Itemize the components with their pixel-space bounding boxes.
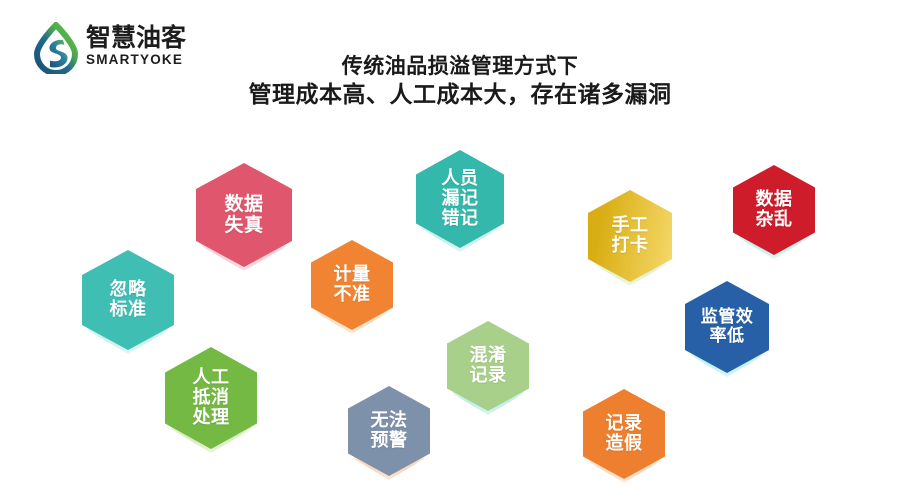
hexagon-confused-records[interactable]: 混淆 记录 — [447, 321, 529, 411]
slide-canvas: 智慧油客 SMARTYOKE 传统油品损溢管理方式下 管理成本高、人工成本大，存… — [0, 0, 920, 502]
hexagon-label: 无法 预警 — [371, 411, 408, 451]
hexagon-measurement-inaccurate[interactable]: 计量 不准 — [311, 240, 393, 330]
hexagon-record-falsification[interactable]: 记录 造假 — [583, 389, 665, 479]
hexagon-label: 数据 失真 — [224, 194, 263, 237]
hexagon-staff-miss-wrong-record[interactable]: 人员 漏记 错记 — [416, 150, 504, 248]
hexagon-label: 人工 抵消 处理 — [193, 368, 230, 428]
hexagon-label: 数据 杂乱 — [756, 190, 793, 230]
hexagon-label: 混淆 记录 — [470, 346, 507, 386]
title-line-2: 管理成本高、人工成本大，存在诸多漏洞 — [160, 80, 760, 111]
page-title: 传统油品损溢管理方式下 管理成本高、人工成本大，存在诸多漏洞 — [160, 52, 760, 111]
hexagon-label: 忽略 标准 — [110, 280, 147, 320]
hexagon-manual-clock-in[interactable]: 手工 打卡 — [588, 190, 672, 282]
droplet-s-logo-icon — [30, 22, 82, 74]
hexagon-label: 监管效 率低 — [701, 308, 754, 346]
hexagon-shape[interactable]: 人工 抵消 处理 — [165, 347, 257, 449]
hexagon-label: 手工 打卡 — [612, 216, 649, 256]
hexagon-ignore-standard[interactable]: 忽略 标准 — [82, 250, 174, 350]
title-line-1: 传统油品损溢管理方式下 — [160, 52, 760, 80]
hexagon-data-distortion[interactable]: 数据 失真 — [196, 163, 292, 267]
hexagon-label: 计量 不准 — [334, 265, 371, 305]
hexagon-manual-offset-handling[interactable]: 人工 抵消 处理 — [165, 347, 257, 449]
hexagon-label: 人员 漏记 错记 — [442, 169, 479, 229]
hexagon-messy-data[interactable]: 数据 杂乱 — [733, 165, 815, 255]
hexagon-no-early-warning[interactable]: 无法 预警 — [348, 386, 430, 476]
brand-name-cn: 智慧油客 — [86, 24, 226, 51]
hexagon-low-supervision-efficiency[interactable]: 监管效 率低 — [685, 281, 769, 373]
hexagon-label: 记录 造假 — [606, 414, 643, 454]
